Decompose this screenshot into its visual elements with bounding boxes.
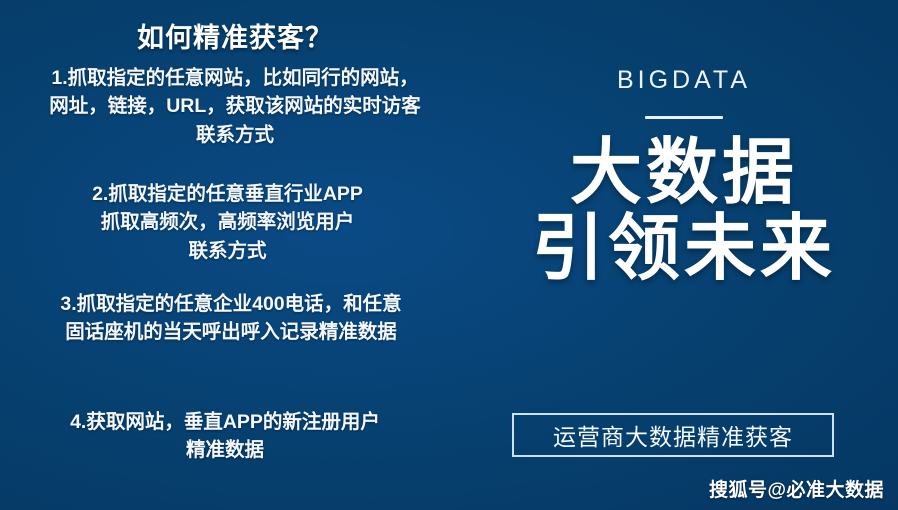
list-item-line: 固话座机的当天呼出呼入记录精准数据 (0, 318, 462, 346)
status-badge: 运营商大数据精准获客 (512, 413, 834, 457)
watermark: 搜狐号@必准大数据 (709, 475, 884, 502)
brand-english-label: BIGDATA (470, 0, 898, 95)
slogan-line: 引领未来 (470, 211, 898, 287)
left-content-column: 如何精准获客？ 1.抓取指定的任意网站，比如同行的网站， 网址，链接，URL，获… (0, 0, 470, 510)
list-item-line: 联系方式 (0, 121, 470, 149)
right-branding-column: BIGDATA 大数据 引领未来 运营商大数据精准获客 (470, 0, 898, 510)
list-item-line: 1.抓取指定的任意网站，比如同行的网站， (0, 64, 470, 92)
page-title: 如何精准获客？ (0, 0, 470, 55)
list-item-line: 联系方式 (0, 237, 455, 265)
status-badge-label: 运营商大数据精准获客 (553, 418, 793, 452)
list-item-line: 4.获取网站，垂直APP的新注册用户 (0, 408, 450, 436)
poster-canvas: 如何精准获客？ 1.抓取指定的任意网站，比如同行的网站， 网址，链接，URL，获… (0, 0, 898, 510)
list-item-line: 2.抓取指定的任意垂直行业APP (0, 180, 455, 208)
slogan: 大数据 引领未来 (470, 119, 898, 288)
list-item: 1.抓取指定的任意网站，比如同行的网站， 网址，链接，URL，获取该网站的实时访… (0, 64, 470, 149)
list-item-line: 抓取高频次，高频率浏览用户 (0, 208, 455, 236)
list-item-line: 网址，链接，URL，获取该网站的实时访客 (0, 92, 470, 120)
list-item-line: 精准数据 (0, 436, 450, 464)
slogan-line: 大数据 (470, 135, 898, 211)
list-item: 3.抓取指定的任意企业400电话，和任意 固话座机的当天呼出呼入记录精准数据 (0, 290, 462, 347)
list-item: 4.获取网站，垂直APP的新注册用户 精准数据 (0, 408, 450, 465)
list-item-line: 3.抓取指定的任意企业400电话，和任意 (0, 290, 462, 318)
list-item: 2.抓取指定的任意垂直行业APP 抓取高频次，高频率浏览用户 联系方式 (0, 180, 455, 265)
